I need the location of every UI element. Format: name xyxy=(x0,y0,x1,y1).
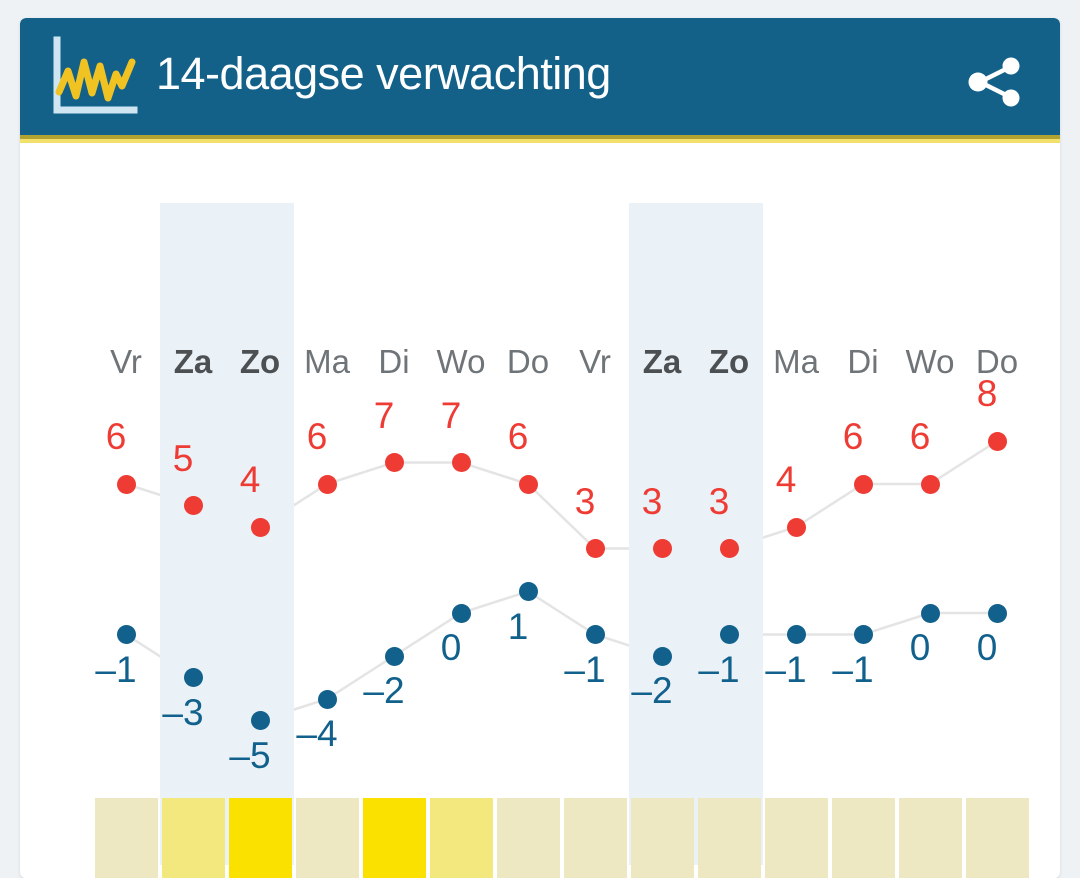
value-label-max-13: 8 xyxy=(952,373,1022,415)
day-label-9: Zo xyxy=(696,343,763,381)
value-label-min-5: 0 xyxy=(416,627,486,669)
data-point-min-9[interactable] xyxy=(720,625,739,644)
value-label-min-9: –1 xyxy=(684,649,754,691)
data-point-min-3[interactable] xyxy=(318,690,337,709)
value-label-max-1: 5 xyxy=(148,438,218,480)
data-point-max-9[interactable] xyxy=(720,539,739,558)
sun-cell-8[interactable] xyxy=(631,798,694,878)
sun-cell-13[interactable] xyxy=(966,798,1029,878)
data-point-min-7[interactable] xyxy=(586,625,605,644)
value-label-min-8: –2 xyxy=(617,670,687,712)
data-point-max-0[interactable] xyxy=(117,475,136,494)
day-label-2: Zo xyxy=(227,343,294,381)
value-label-min-11: –1 xyxy=(818,649,888,691)
data-point-max-12[interactable] xyxy=(921,475,940,494)
value-label-max-8: 3 xyxy=(617,481,687,523)
value-label-max-10: 4 xyxy=(751,459,821,501)
value-label-min-2: –5 xyxy=(215,735,285,777)
sun-cell-3[interactable] xyxy=(296,798,359,878)
page-title: 14-daagse verwachting xyxy=(156,48,611,100)
line-chart-icon xyxy=(50,36,138,118)
day-label-7: Vr xyxy=(562,343,629,381)
value-label-min-6: 1 xyxy=(483,606,553,648)
card-header: 14-daagse verwachting xyxy=(20,18,1060,135)
forecast-chart: VrZaZoMaDiWoDoVrZaZoMaDiWoDo 65467763334… xyxy=(20,143,1060,878)
day-label-3: Ma xyxy=(294,343,361,381)
share-icon xyxy=(964,56,1026,108)
data-point-min-1[interactable] xyxy=(184,668,203,687)
forecast-card: 14-daagse verwachting VrZaZoMaDiWoDoVrZa… xyxy=(20,18,1060,878)
value-label-max-3: 6 xyxy=(282,416,352,458)
data-point-max-5[interactable] xyxy=(452,453,471,472)
data-point-max-13[interactable] xyxy=(988,432,1007,451)
data-point-max-7[interactable] xyxy=(586,539,605,558)
value-label-min-3: –4 xyxy=(282,713,352,755)
value-label-max-6: 6 xyxy=(483,416,553,458)
data-point-min-12[interactable] xyxy=(921,604,940,623)
data-point-min-4[interactable] xyxy=(385,647,404,666)
value-label-max-5: 7 xyxy=(416,395,486,437)
value-label-min-7: –1 xyxy=(550,649,620,691)
data-point-min-10[interactable] xyxy=(787,625,806,644)
day-label-0: Vr xyxy=(93,343,160,381)
day-label-6: Do xyxy=(495,343,562,381)
value-label-min-12: 0 xyxy=(885,627,955,669)
value-label-min-13: 0 xyxy=(952,627,1022,669)
data-point-min-2[interactable] xyxy=(251,711,270,730)
day-label-1: Za xyxy=(160,343,227,381)
sun-cell-2[interactable] xyxy=(229,798,292,878)
sun-cell-6[interactable] xyxy=(497,798,560,878)
weekend-band xyxy=(629,203,763,865)
data-point-max-11[interactable] xyxy=(854,475,873,494)
data-point-max-4[interactable] xyxy=(385,453,404,472)
sun-cell-4[interactable] xyxy=(363,798,426,878)
day-label-8: Za xyxy=(629,343,696,381)
value-label-min-10: –1 xyxy=(751,649,821,691)
day-label-11: Di xyxy=(830,343,897,381)
day-label-5: Wo xyxy=(428,343,495,381)
data-point-min-5[interactable] xyxy=(452,604,471,623)
data-point-max-2[interactable] xyxy=(251,518,270,537)
sun-cell-11[interactable] xyxy=(832,798,895,878)
sun-cell-1[interactable] xyxy=(162,798,225,878)
data-point-max-1[interactable] xyxy=(184,496,203,515)
value-label-max-12: 6 xyxy=(885,416,955,458)
data-point-max-8[interactable] xyxy=(653,539,672,558)
value-label-max-4: 7 xyxy=(349,395,419,437)
sun-bar xyxy=(20,798,1060,878)
value-label-max-9: 3 xyxy=(684,481,754,523)
data-point-min-0[interactable] xyxy=(117,625,136,644)
value-label-max-7: 3 xyxy=(550,481,620,523)
share-button[interactable] xyxy=(964,56,1026,108)
data-point-max-10[interactable] xyxy=(787,518,806,537)
sun-cell-9[interactable] xyxy=(698,798,761,878)
data-point-min-11[interactable] xyxy=(854,625,873,644)
value-label-max-11: 6 xyxy=(818,416,888,458)
value-label-min-1: –3 xyxy=(148,692,218,734)
data-point-max-3[interactable] xyxy=(318,475,337,494)
sun-cell-12[interactable] xyxy=(899,798,962,878)
data-point-max-6[interactable] xyxy=(519,475,538,494)
value-label-min-4: –2 xyxy=(349,670,419,712)
value-label-min-0: –1 xyxy=(81,649,151,691)
day-label-4: Di xyxy=(361,343,428,381)
day-label-10: Ma xyxy=(763,343,830,381)
data-point-min-6[interactable] xyxy=(519,582,538,601)
sun-cell-7[interactable] xyxy=(564,798,627,878)
sun-cell-10[interactable] xyxy=(765,798,828,878)
value-label-max-0: 6 xyxy=(81,416,151,458)
sun-cell-5[interactable] xyxy=(430,798,493,878)
sun-cell-0[interactable] xyxy=(95,798,158,878)
data-point-min-13[interactable] xyxy=(988,604,1007,623)
value-label-max-2: 4 xyxy=(215,459,285,501)
data-point-min-8[interactable] xyxy=(653,647,672,666)
